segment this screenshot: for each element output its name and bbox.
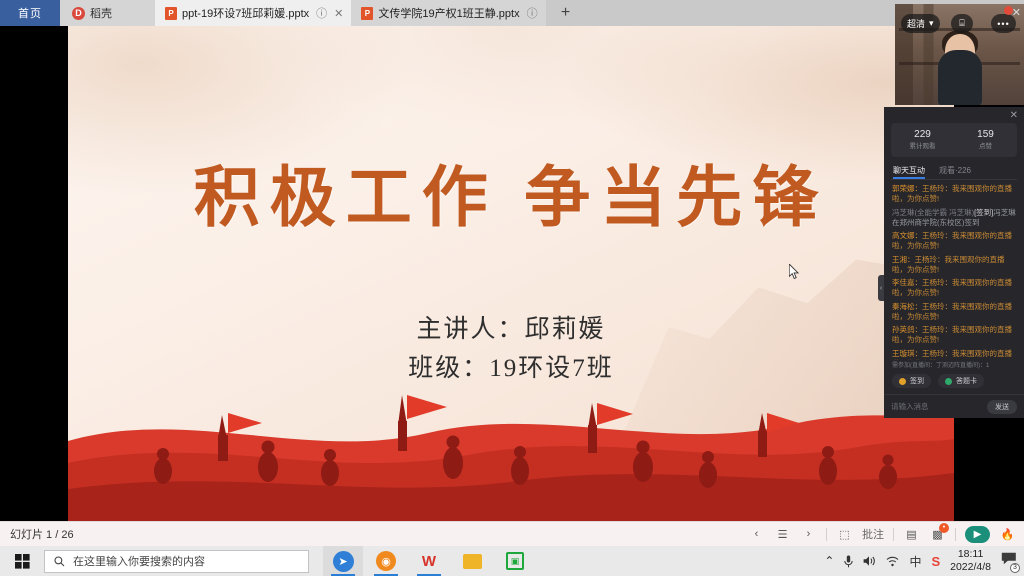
flame-icon[interactable]: 🔥: [999, 526, 1016, 543]
chat-close-icon[interactable]: ✕: [1010, 110, 1018, 121]
chat-message: 高文娜：王杨玲：我来围观你的直播啦，为你点赞!: [892, 231, 1016, 251]
taskbar-app-qq[interactable]: ▣: [495, 546, 535, 576]
stat-views: 229 累计观看: [891, 128, 954, 152]
annotate-label[interactable]: 批注: [862, 526, 884, 542]
taskbar-app-wps[interactable]: W: [409, 546, 449, 576]
browser-app-icon: ◉: [376, 551, 396, 571]
clock-time: 18:11: [950, 548, 991, 561]
chat-message: 秦海松：王杨玲：我来围观你的直播啦，为你点赞!: [892, 302, 1016, 322]
qq-app-icon: ▣: [506, 552, 524, 570]
powerpoint-icon: P: [361, 7, 373, 20]
share-icon[interactable]: ⌸: [951, 14, 973, 33]
stat-views-value: 229: [891, 128, 954, 141]
mouse-cursor: [789, 264, 800, 280]
annotate-icon[interactable]: ⬚: [836, 526, 853, 543]
slide-counter: 幻灯片 1 / 26: [0, 526, 74, 542]
taskbar-app-pointer[interactable]: ➤: [323, 546, 363, 576]
taskbar-search-placeholder: 在这里输入你要搜索的内容: [73, 553, 205, 569]
chat-tab-strip: 聊天互动 观看·226: [884, 157, 1024, 179]
tab-document-2[interactable]: P 文传学院19产权1班王静.pptx ⓘ: [351, 0, 545, 26]
info-icon[interactable]: ⓘ: [316, 5, 327, 21]
video-quality-label: 超清: [907, 17, 925, 30]
tray-chevron-up-icon[interactable]: ⌃: [824, 554, 834, 568]
presenter-video-panel[interactable]: ✕ 超清 ▾ ⌸ •••: [895, 4, 1024, 105]
play-button[interactable]: ▶: [965, 526, 990, 543]
video-close-icon[interactable]: ✕: [1012, 6, 1021, 19]
chat-message: 王湘：王杨玲：我来围观你的直播啦，为你点赞!: [892, 255, 1016, 275]
search-icon: [54, 556, 65, 567]
tab-home-label: 首页: [18, 5, 42, 21]
chat-message-author: 李佳嘉：: [892, 278, 922, 287]
new-tab-button[interactable]: +: [546, 0, 586, 26]
slide-canvas[interactable]: 积极工作 争当先锋 主讲人：邱莉媛 班级：19环设7班: [68, 26, 954, 521]
chat-message-author: 冯芝琳(全能学霸 冯芝琳): [892, 208, 974, 217]
tab-docer[interactable]: D 稻壳: [60, 0, 155, 26]
slide-outline-icon[interactable]: ☰: [774, 526, 791, 543]
chat-message: 孙英鸽：王杨玲：我来围观你的直播啦，为你点赞!: [892, 325, 1016, 345]
chat-composer: 请输入消息 发送: [884, 394, 1024, 418]
taskbar-app-browser[interactable]: ◉: [366, 546, 406, 576]
chat-message-author: 王璇琪：: [892, 349, 922, 358]
video-quality-selector[interactable]: 超清 ▾: [901, 14, 940, 33]
presentation-stage: 积极工作 争当先锋 主讲人：邱莉媛 班级：19环设7班: [0, 26, 1024, 521]
browser-tab-bar: 首页 D 稻壳 P ppt-19环设7班邱莉媛.pptx ⓘ ✕ P 文传学院1…: [0, 0, 1024, 26]
answer-card-label: 答题卡: [956, 376, 977, 386]
answer-card-icon: [945, 378, 952, 385]
sogou-ime-icon[interactable]: S: [931, 554, 940, 569]
tab-document-1-label: ppt-19环设7班邱莉媛.pptx: [182, 5, 309, 21]
tab-docer-label: 稻壳: [90, 5, 112, 21]
tab-home[interactable]: 首页: [0, 0, 60, 26]
next-slide-button[interactable]: ›: [800, 526, 817, 543]
stats-row: 229 累计观看 159 点赞: [891, 123, 1017, 157]
ime-indicator[interactable]: 中: [909, 553, 921, 570]
live-chat-panel: ‹ ✕ 229 累计观看 159 点赞 聊天互动 观看·226 郭荣娜：王杨玲：…: [884, 107, 1024, 418]
tab-viewers[interactable]: 观看·226: [939, 165, 971, 179]
prev-slide-button[interactable]: ‹: [748, 526, 765, 543]
status-divider: [955, 528, 956, 541]
powerpoint-icon: P: [165, 7, 177, 20]
chat-message: 王璇琪：王杨玲：我来围观你的直播啦，为你点赞!: [892, 349, 1016, 361]
grid-view-icon[interactable]: ▩ •: [929, 526, 946, 543]
stat-likes: 159 点赞: [954, 128, 1017, 152]
stat-likes-label: 点赞: [954, 141, 1017, 152]
chat-message-author: 王湘：: [892, 255, 915, 264]
red-wave-graphic: [68, 321, 954, 521]
chevron-down-icon: ▾: [929, 18, 934, 29]
status-bar-controls: ‹ ☰ › ⬚ 批注 ▤ ▩ • ▶ 🔥: [748, 526, 1024, 543]
slide-title: 积极工作 争当先锋: [68, 144, 954, 240]
docer-icon: D: [72, 7, 85, 20]
chat-input[interactable]: 请输入消息: [891, 401, 981, 412]
chat-message-author: 秦海松：: [892, 302, 922, 311]
chat-message: 李佳嘉：王杨玲：我来围观你的直播啦，为你点赞!: [892, 278, 1016, 298]
system-tray: ⌃ 中 S 18:11 2022/4/8: [824, 548, 1024, 574]
info-icon[interactable]: ⓘ: [527, 5, 538, 21]
status-divider: [826, 528, 827, 541]
tab-chat[interactable]: 聊天互动: [893, 165, 925, 179]
chat-message-tag: [签到]: [974, 208, 993, 217]
stat-views-label: 累计观看: [891, 141, 954, 152]
taskbar-app-icons: ➤ ◉ W ▣: [323, 546, 535, 576]
chat-message-list[interactable]: 郭荣娜：王杨玲：我来围观你的直播啦，为你点赞! 冯芝琳(全能学霸 冯芝琳)[签到…: [884, 180, 1024, 360]
windows-taskbar: 在这里输入你要搜索的内容 ➤ ◉ W ▣ ⌃: [0, 546, 1024, 576]
chat-message: 冯芝琳(全能学霸 冯芝琳)[签到]冯芝琳 在郑州商学院(东校区)签到: [892, 208, 1016, 228]
chat-message: 郭荣娜：王杨玲：我来围观你的直播啦，为你点赞!: [892, 184, 1016, 204]
file-explorer-icon: [463, 554, 482, 569]
signin-button[interactable]: 签到: [892, 374, 931, 388]
clock-date: 2022/4/8: [950, 561, 991, 574]
volume-glyph: [863, 555, 876, 567]
wifi-glyph: [886, 556, 899, 567]
notification-badge: 3: [1010, 563, 1020, 573]
start-button[interactable]: [0, 546, 44, 576]
taskbar-app-explorer[interactable]: [452, 546, 492, 576]
play-controls[interactable]: ▶: [965, 526, 990, 543]
wifi-icon[interactable]: [886, 556, 899, 567]
grid-badge: •: [939, 523, 949, 533]
chat-message-author: 高文娜：: [892, 231, 922, 240]
tab-document-2-label: 文传学院19产权1班王静.pptx: [378, 5, 519, 21]
layout-view-icon[interactable]: ▤: [903, 526, 920, 543]
chat-collapse-handle[interactable]: ‹: [878, 275, 884, 301]
tab-document-1[interactable]: P ppt-19环设7班邱莉媛.pptx ⓘ ✕: [155, 0, 351, 26]
stat-likes-value: 159: [954, 128, 1017, 141]
chat-message-author: 孙英鸽：: [892, 325, 922, 334]
volume-icon[interactable]: [863, 555, 876, 567]
notification-center-button[interactable]: 3: [1001, 552, 1017, 571]
microphone-glyph: [844, 555, 853, 568]
activity-note: 需参加(直播间：丁测迈阵直播间)：1: [884, 360, 1024, 374]
taskbar-clock[interactable]: 18:11 2022/4/8: [950, 548, 991, 574]
signin-label: 签到: [910, 376, 924, 386]
activity-button-row: 签到 答题卡: [884, 374, 1024, 394]
send-button[interactable]: 发送: [987, 400, 1017, 414]
taskbar-search[interactable]: 在这里输入你要搜索的内容: [44, 550, 309, 573]
close-icon[interactable]: ✕: [334, 7, 343, 20]
wps-app-icon: W: [422, 553, 436, 570]
answer-card-button[interactable]: 答题卡: [938, 374, 984, 388]
chat-message-author: 郭荣娜：: [892, 184, 922, 193]
microphone-icon[interactable]: [844, 555, 853, 568]
signin-icon: [899, 378, 906, 385]
status-divider: [893, 528, 894, 541]
pointer-app-icon: ➤: [333, 551, 354, 572]
windows-logo-icon: [15, 554, 30, 569]
presentation-status-bar: 幻灯片 1 / 26 ‹ ☰ › ⬚ 批注 ▤ ▩ • ▶ 🔥: [0, 521, 1024, 546]
presenter-body: [938, 50, 982, 105]
